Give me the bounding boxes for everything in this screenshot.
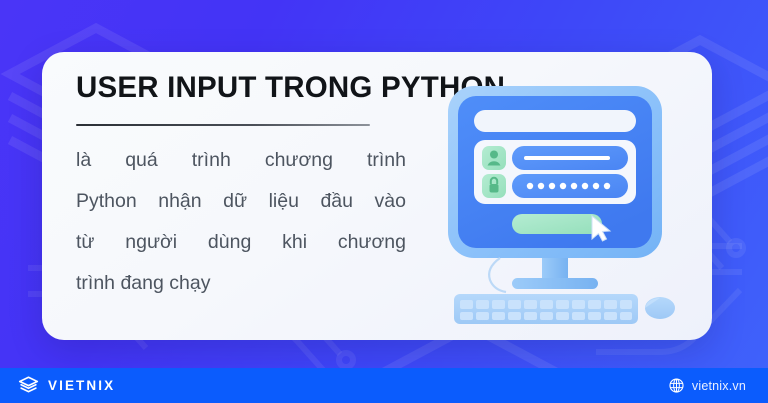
username-field	[512, 146, 628, 170]
brand-name: VIETNIX	[48, 378, 115, 393]
body-line-2: Python nhận dữ liệu đầu vào	[76, 181, 406, 222]
user-icon	[482, 146, 506, 170]
content-card: USER INPUT TRONG PYTHON là quá trình chư…	[42, 52, 712, 340]
submit-button	[512, 214, 602, 234]
title-divider	[76, 124, 370, 126]
slide-canvas: USER INPUT TRONG PYTHON là quá trình chư…	[0, 0, 768, 403]
site-url-link[interactable]: vietnix.vn	[669, 368, 746, 403]
lock-icon	[482, 174, 506, 198]
site-url-text: vietnix.vn	[692, 379, 746, 393]
stacked-layers-icon	[18, 375, 39, 396]
mouse	[645, 297, 675, 319]
cable	[489, 258, 506, 292]
brand-logo[interactable]: VIETNIX	[18, 368, 115, 403]
footer-bar: VIETNIX vietnix.vn	[0, 368, 768, 403]
keyboard	[454, 294, 638, 324]
monitor-stand	[512, 258, 598, 289]
body-line-4: trình đang chạy	[76, 263, 406, 304]
body-paragraph: là quá trình chương trình Python nhận dữ…	[76, 140, 406, 304]
body-line-3: từ người dùng khi chương	[76, 222, 406, 263]
body-line-1: là quá trình chương trình	[76, 140, 406, 181]
password-field	[512, 174, 628, 198]
login-form-panel	[474, 140, 636, 204]
login-illustration	[420, 62, 690, 332]
url-bar	[474, 110, 636, 132]
globe-icon	[669, 378, 684, 393]
